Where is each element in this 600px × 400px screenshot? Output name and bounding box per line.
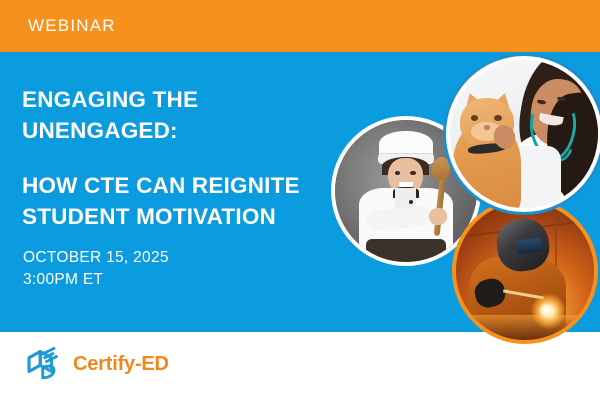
headline-line-2: HOW CTE CAN REIGNITE	[22, 170, 352, 201]
logo-wordmark: Certify-ED	[73, 344, 169, 384]
eyebrow-label: WEBINAR	[28, 14, 116, 38]
page-title: ENGAGING THE UNENGAGED: HOW CTE CAN REIG…	[22, 84, 352, 232]
photo-welder-at-work	[452, 198, 598, 344]
event-datetime: OCTOBER 15, 2025 3:00PM ET	[23, 247, 169, 291]
welder-photo-art	[456, 202, 594, 340]
event-date: OCTOBER 15, 2025	[23, 247, 169, 269]
webinar-promo-poster: WEBINAR ENGAGING THE UNENGAGED: HOW CTE …	[0, 0, 600, 400]
headline-line-3: STUDENT MOTIVATION	[22, 201, 352, 232]
vet-photo-art	[450, 60, 598, 208]
photo-veterinarian-with-cat	[446, 56, 600, 212]
event-time: 3:00PM ET	[23, 269, 169, 291]
brand-logo[interactable]: Certify-ED	[24, 344, 169, 384]
headline-line-1: ENGAGING THE UNENGAGED:	[22, 84, 352, 146]
certify-ed-cube-icon	[24, 344, 64, 384]
